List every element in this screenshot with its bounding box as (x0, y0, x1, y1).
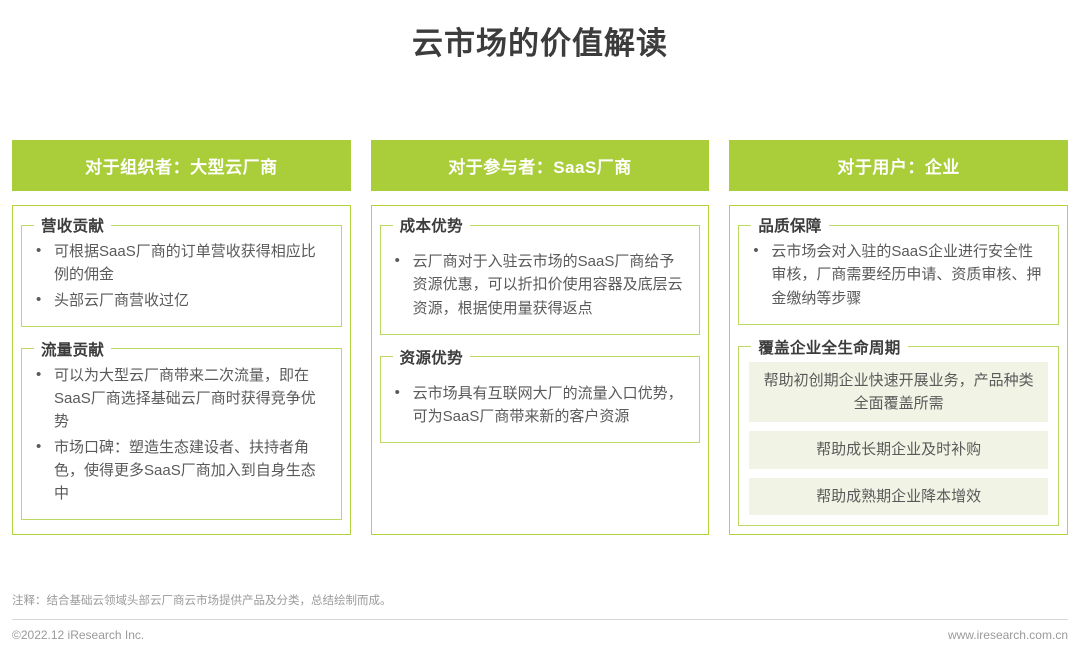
list-item: 云市场具有互联网大厂的流量入口优势，可为SaaS厂商带来新的客户资源 (391, 382, 688, 429)
list-item: 帮助成熟期企业降本增效 (749, 478, 1048, 515)
list-item: 云市场会对入驻的SaaS企业进行安全性审核，厂商需要经历申请、资质审核、押金缴纳… (749, 240, 1046, 310)
list-item: 可根据SaaS厂商的订单营收获得相应比例的佣金 (32, 240, 329, 287)
card-resource-advantage: 资源优势 云市场具有互联网大厂的流量入口优势，可为SaaS厂商带来新的客户资源 (380, 346, 701, 444)
card-title: 品质保障 (751, 214, 828, 236)
footer-divider (12, 619, 1068, 620)
card-full-lifecycle-coverage: 覆盖企业全生命周期 帮助初创期企业快速开展业务，产品种类全面覆盖所需 帮助成长期… (738, 336, 1059, 526)
column-header-user: 对于用户：企业 (729, 140, 1068, 191)
card-content: 可根据SaaS厂商的订单营收获得相应比例的佣金 头部云厂商营收过亿 (22, 236, 341, 326)
list-item: 帮助初创期企业快速开展业务，产品种类全面覆盖所需 (749, 362, 1048, 423)
columns-container: 对于组织者：大型云厂商 营收贡献 可根据SaaS厂商的订单营收获得相应比例的佣金… (12, 140, 1068, 535)
card-title: 成本优势 (393, 214, 470, 236)
column-header-participant: 对于参与者：SaaS厂商 (371, 140, 710, 191)
column-organizer: 对于组织者：大型云厂商 营收贡献 可根据SaaS厂商的订单营收获得相应比例的佣金… (12, 140, 351, 535)
card-traffic-contribution: 流量贡献 可以为大型云厂商带来二次流量，即在SaaS厂商选择基础云厂商时获得竞争… (21, 338, 342, 521)
column-user: 对于用户：企业 品质保障 云市场会对入驻的SaaS企业进行安全性审核，厂商需要经… (729, 140, 1068, 535)
card-content: 云厂商对于入驻云市场的SaaS厂商给予资源优惠，可以折扣价使用容器及底层云资源，… (381, 236, 700, 334)
bullet-list: 可根据SaaS厂商的订单营收获得相应比例的佣金 头部云厂商营收过亿 (32, 240, 329, 312)
footer: ©2022.12 iResearch Inc. www.iresearch.co… (12, 628, 1068, 642)
card-content: 可以为大型云厂商带来二次流量，即在SaaS厂商选择基础云厂商时获得竞争优势 市场… (22, 360, 341, 520)
list-item: 可以为大型云厂商带来二次流量，即在SaaS厂商选择基础云厂商时获得竞争优势 (32, 364, 329, 434)
bullet-list: 云市场会对入驻的SaaS企业进行安全性审核，厂商需要经历申请、资质审核、押金缴纳… (749, 240, 1046, 310)
footnote: 注释：结合基础云领域头部云厂商云市场提供产品及分类，总结绘制而成。 (12, 592, 392, 608)
website-link[interactable]: www.iresearch.com.cn (948, 628, 1068, 642)
bullet-list: 云市场具有互联网大厂的流量入口优势，可为SaaS厂商带来新的客户资源 (391, 382, 688, 429)
card-content: 云市场具有互联网大厂的流量入口优势，可为SaaS厂商带来新的客户资源 (381, 368, 700, 443)
card-quality-assurance: 品质保障 云市场会对入驻的SaaS企业进行安全性审核，厂商需要经历申请、资质审核… (738, 214, 1059, 325)
column-body-participant: 成本优势 云厂商对于入驻云市场的SaaS厂商给予资源优惠，可以折扣价使用容器及底… (371, 205, 710, 535)
copyright-text: ©2022.12 iResearch Inc. (12, 628, 144, 642)
card-revenue-contribution: 营收贡献 可根据SaaS厂商的订单营收获得相应比例的佣金 头部云厂商营收过亿 (21, 214, 342, 327)
list-item: 帮助成长期企业及时补购 (749, 431, 1048, 468)
card-content: 云市场会对入驻的SaaS企业进行安全性审核，厂商需要经历申请、资质审核、押金缴纳… (739, 236, 1058, 324)
bullet-list: 可以为大型云厂商带来二次流量，即在SaaS厂商选择基础云厂商时获得竞争优势 市场… (32, 364, 329, 506)
card-title: 流量贡献 (34, 338, 111, 360)
card-cost-advantage: 成本优势 云厂商对于入驻云市场的SaaS厂商给予资源优惠，可以折扣价使用容器及底… (380, 214, 701, 335)
infographic-page: 云市场的价值解读 对于组织者：大型云厂商 营收贡献 可根据SaaS厂商的订单营收… (0, 0, 1080, 655)
card-title: 覆盖企业全生命周期 (751, 336, 907, 358)
column-body-organizer: 营收贡献 可根据SaaS厂商的订单营收获得相应比例的佣金 头部云厂商营收过亿 流… (12, 205, 351, 535)
card-title: 资源优势 (393, 346, 470, 368)
column-participant: 对于参与者：SaaS厂商 成本优势 云厂商对于入驻云市场的SaaS厂商给予资源优… (371, 140, 710, 535)
card-title: 营收贡献 (34, 214, 111, 236)
bullet-list: 云厂商对于入驻云市场的SaaS厂商给予资源优惠，可以折扣价使用容器及底层云资源，… (391, 250, 688, 320)
column-body-user: 品质保障 云市场会对入驻的SaaS企业进行安全性审核，厂商需要经历申请、资质审核… (729, 205, 1068, 535)
list-item: 市场口碑：塑造生态建设者、扶持者角色，使得更多SaaS厂商加入到自身生态中 (32, 436, 329, 506)
list-item: 云厂商对于入驻云市场的SaaS厂商给予资源优惠，可以折扣价使用容器及底层云资源，… (391, 250, 688, 320)
page-title: 云市场的价值解读 (0, 0, 1080, 63)
list-item: 头部云厂商营收过亿 (32, 289, 329, 312)
column-header-organizer: 对于组织者：大型云厂商 (12, 140, 351, 191)
chip-list: 帮助初创期企业快速开展业务，产品种类全面覆盖所需 帮助成长期企业及时补购 帮助成… (739, 358, 1058, 525)
